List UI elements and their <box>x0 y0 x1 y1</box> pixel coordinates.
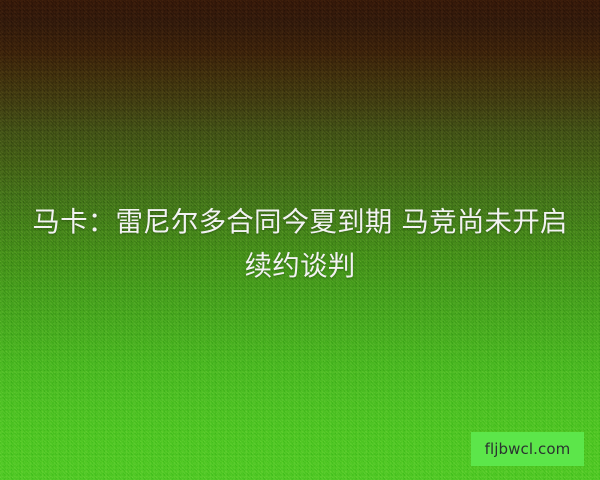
thumbnail-canvas: 马卡：雷尼尔多合同今夏到期 马竞尚未开启续约谈判 fljbwcl.com <box>0 0 600 480</box>
watermark-badge[interactable]: fljbwcl.com <box>471 432 584 466</box>
headline-text: 马卡：雷尼尔多合同今夏到期 马竞尚未开启续约谈判 <box>0 200 600 288</box>
watermark-domain-label: fljbwcl.com <box>485 442 571 457</box>
